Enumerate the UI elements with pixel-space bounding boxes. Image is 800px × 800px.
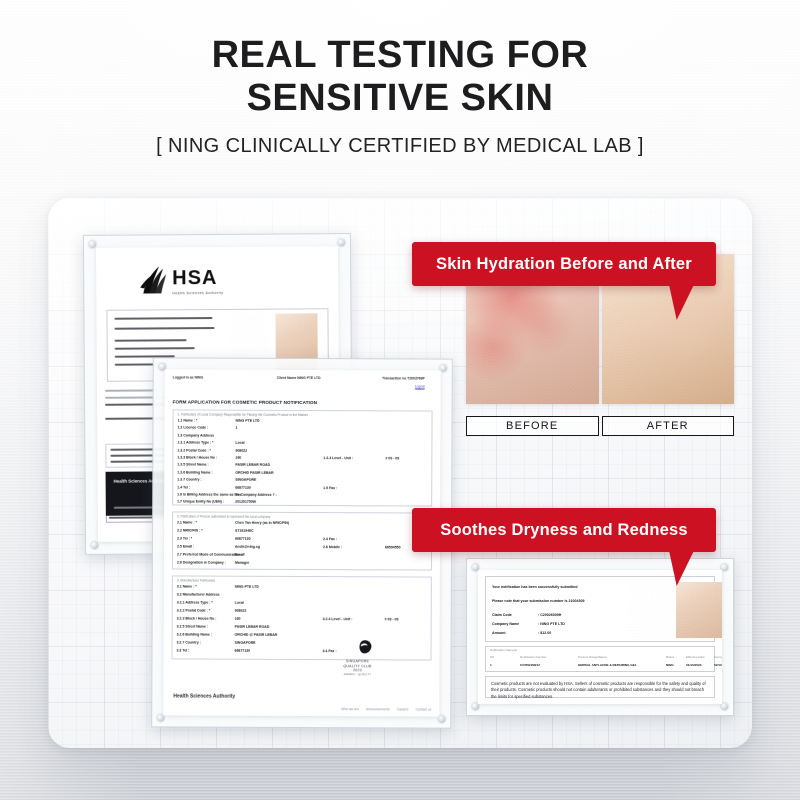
notification-field-label: Amount: [492, 631, 506, 635]
title-line-1: REAL TESTING FOR: [0, 34, 800, 77]
form-top-bar: Logged in as NING Client Name NING PTE L…: [173, 375, 433, 392]
section-1-heading: 1. Particulars of Local Company Responsi…: [178, 412, 308, 417]
receipt-field-line: [115, 347, 195, 350]
form-section-1: 1. Particulars of Local Company Responsi…: [172, 409, 432, 506]
document-panel-application-form[interactable]: Logged in as NING Client Name NING PTE L…: [151, 357, 453, 728]
table-cell: 01/10/2023: [686, 663, 701, 667]
form-field-value: Yes: [235, 493, 241, 497]
application-form-paper: Logged in as NING Client Name NING PTE L…: [163, 369, 441, 716]
form-field-label: 2.1 Name : *: [177, 520, 197, 524]
form-field-value: 160: [235, 617, 241, 621]
form-title: FORM APPLICATION FOR COSMETIC PRODUCT NO…: [173, 399, 318, 405]
banner-soothes-dryness: Soothes Dryness and Redness: [412, 508, 716, 552]
form-field-value: 201201750W: [235, 500, 256, 504]
form-field-label: 1.3.3 Block / House No :: [177, 455, 217, 459]
form-field-value: Local: [235, 601, 244, 605]
form-field-label: 3.3 Tel :: [177, 648, 190, 652]
table-cell: 1: [490, 663, 492, 667]
form-field-label: 1.3.7 Country :: [177, 478, 201, 482]
notification-disclaimer: Cosmetic products are not evaluated by H…: [486, 677, 714, 704]
form-field-label: 2.8 Designation in Company :: [177, 560, 226, 564]
form-field-label: 1.3.6 Building Name :: [177, 470, 212, 474]
form-field-value: Manager: [235, 561, 249, 565]
hsa-bird-icon: [138, 263, 168, 295]
form-field-label: 3.2.2 Postal Code : *: [177, 608, 210, 612]
footer-link[interactable]: Careers: [397, 707, 409, 711]
notification-field-label: Claim Code: [492, 613, 512, 617]
receipt-submitted-line: [114, 317, 212, 320]
screw-icon: [91, 542, 98, 549]
screw-icon: [89, 241, 96, 248]
section-2-heading: 2. Particulars of Person authorised to r…: [177, 514, 270, 518]
screw-icon: [440, 365, 447, 372]
form-field-value: 908022: [235, 609, 247, 613]
form-field-label: 3.2.7 Country :: [177, 640, 201, 644]
form-field-label: 3.2.1 Address Type : *: [177, 600, 213, 604]
table-cell: CCPN21M212: [520, 663, 540, 667]
form-field-value: 66594550: [385, 545, 401, 549]
screw-icon: [438, 716, 445, 723]
form-section-2: 2. Particulars of Person authorised to r…: [172, 511, 432, 570]
form-footer-links[interactable]: Who we areAnnouncementsCareersContact us: [341, 707, 431, 711]
receipt-number-line: [115, 327, 215, 330]
form-field-value: NING PTE LTD: [235, 585, 259, 589]
table-column-header: Product Range/Name: [578, 655, 607, 659]
form-field-value: Chen Tan Henry (as in NRIC/FIN): [235, 521, 289, 525]
stamp-line-4: AWARD - QUALITY: [331, 673, 383, 677]
notification-field-value: : NING PTE LTD: [538, 622, 565, 626]
form-field-label: 1.3.4 Level - Unit :: [323, 456, 353, 460]
form-field-label: 3.2.5 Street Name :: [177, 624, 208, 628]
form-field-value: PASIR LEBAR ROAD: [235, 625, 270, 629]
form-field-label: 1.3.1 Address Type : *: [177, 441, 213, 445]
form-field-value: 1: [235, 426, 237, 430]
form-field-label: 3.2 Manufacturer Address: [177, 592, 220, 596]
hsa-logo-subtitle: Health Sciences Authority: [172, 291, 223, 295]
screw-icon: [338, 239, 345, 246]
form-field-label: 1.1 Name : *: [178, 418, 198, 422]
banner-skin-hydration: Skin Hydration Before and After: [412, 242, 716, 286]
form-field-value: PASIR LEBAR ROAD: [235, 463, 270, 467]
banner-skin-hydration-label: Skin Hydration Before and After: [436, 255, 692, 274]
form-field-value: 66877130: [235, 485, 251, 489]
notification-table: Notification Name(s) SNNotification Numb…: [485, 646, 715, 672]
footer-link[interactable]: Announcements: [366, 707, 390, 711]
notification-disclaimer-box: Cosmetic products are not evaluated by H…: [485, 676, 715, 698]
form-field-value: ORCHID @ PASIR LEBAR: [235, 633, 278, 637]
table-cell: HERBAL ANTI-ACNE & REPAIRING GEL: [578, 663, 637, 667]
headline-block: REAL TESTING FOR SENSITIVE SKIN [ NING C…: [0, 34, 800, 158]
form-field-value: 160: [235, 456, 241, 460]
form-field-value: # 09 - 09: [385, 456, 399, 460]
logout-link[interactable]: Logout: [415, 384, 425, 388]
footer-link[interactable]: Contact us: [416, 707, 432, 711]
form-field-value: 66877130: [235, 537, 251, 541]
section-2-rows: 2.1 Name : *Chen Tan Henry (as in NRIC/F…: [173, 512, 431, 513]
screw-icon: [721, 703, 728, 710]
screw-icon: [472, 703, 479, 710]
form-section-3: 3. Manufacturer Particulars 3.1 Name : *…: [171, 575, 431, 660]
form-field-value: NING PTE LTD: [236, 419, 260, 423]
form-field-label: 2.3 Tel : *: [177, 536, 192, 540]
form-logged-in-user: Logged in as NING: [173, 375, 203, 379]
form-field-label: 1.3.2 Postal Code : *: [177, 448, 210, 452]
notification-skin-after-thumb: [676, 582, 722, 638]
section-1-rows: 1.1 Name : *NING PTE LTD1.2 Licence Code…: [174, 410, 432, 411]
form-field-label: 1.2 Licence Code :: [177, 426, 208, 430]
skin-grain: [627, 582, 674, 638]
footer-link[interactable]: Who we are: [341, 707, 359, 711]
table-column-header: Effective Date: [686, 655, 705, 659]
section-3-heading: 3. Manufacturer Particulars: [177, 578, 215, 582]
hsa-wordmark: HSA: [172, 267, 217, 289]
form-field-value: S7191946C: [235, 529, 254, 533]
form-field-value: SINGAPORE: [235, 478, 256, 482]
table-cell: 02/10/2024: [714, 663, 722, 667]
hsa-logo: HSA Health Sciences Authority: [138, 263, 223, 296]
form-field-value: # 09 - 09: [385, 617, 399, 621]
form-field-label: 3.2.3 Block / House No :: [177, 616, 217, 620]
form-field-value: 908022: [235, 448, 247, 452]
notification-field-value: : C20026009H: [538, 613, 561, 617]
banner-soothes-dryness-label: Soothes Dryness and Redness: [440, 521, 687, 540]
table-caption: Notification Name(s): [490, 648, 517, 652]
form-field-value: Local: [235, 441, 244, 445]
notification-submitted-text: Your notification has been successfully …: [492, 585, 578, 589]
screw-icon: [157, 714, 164, 721]
before-after-labels: BEFORE AFTER: [466, 416, 734, 436]
label-after: AFTER: [602, 416, 735, 436]
page-subtitle: [ NING CLINICALLY CERTIFIED BY MEDICAL L…: [0, 135, 800, 158]
table-column-header: Notification Number: [520, 655, 546, 659]
form-field-label: 1.7 Unique Entity No (UEN) :: [177, 500, 224, 504]
form-field-label: 1.6 Is Billing Address the same as the C…: [177, 492, 277, 496]
form-field-label: 1.5 Fax :: [323, 486, 337, 490]
form-field-label: 2.4 Fax :: [323, 537, 337, 541]
form-field-label: 3.2.4 Level - Unit :: [323, 617, 353, 621]
quality-club-stamp: SINGAPORE QUALITY CLUB 2023 AWARD - QUAL…: [331, 637, 383, 676]
table-column-header: Expiry Date: [714, 655, 722, 659]
receipt-field-line: [115, 339, 187, 342]
form-field-label: 2.5 Email :: [177, 544, 194, 548]
form-field-label: 3.2.6 Building Name :: [177, 632, 212, 636]
page-title: REAL TESTING FOR SENSITIVE SKIN: [0, 34, 800, 119]
form-field-label: 1.3 Company Address: [177, 433, 214, 437]
notification-field-label: Company Name: [492, 622, 519, 626]
skin-grain: [676, 582, 722, 638]
form-field-label: 1.3.5 Street Name :: [177, 463, 208, 467]
form-field-value: deshi@ning.sg: [235, 545, 260, 549]
form-field-label: 2.2 NRIC/FIN : *: [177, 528, 203, 532]
table-cell: NING: [666, 663, 674, 667]
form-field-value: ORCHID PASIR LEBAR: [235, 471, 273, 475]
table-column-header: SN: [490, 655, 494, 659]
form-field-label: 1.4 Tel :: [177, 485, 190, 489]
label-before: BEFORE: [466, 416, 599, 436]
form-transaction-no: Transaction no T2003769P: [382, 376, 425, 380]
form-field-value: SINGAPORE: [235, 641, 256, 645]
notification-paper: Your notification has been successfully …: [478, 570, 722, 704]
form-field-value: 66877130: [235, 649, 251, 653]
table-caption-line: [105, 389, 157, 391]
form-field-value: Email: [235, 553, 244, 557]
document-panel-notification[interactable]: Your notification has been successfully …: [466, 558, 734, 716]
form-field-label: 2.6 Mobile :: [323, 545, 342, 549]
table-column-header: Brand: [666, 655, 674, 659]
notification-skin-before-thumb: [627, 582, 674, 638]
section-3-rows: 3.1 Name : *NING PTE LTD3.2 Manufacturer…: [173, 576, 431, 577]
notification-number-text: Please note that your submission number …: [492, 599, 584, 603]
title-line-2: SENSITIVE SKIN: [0, 77, 800, 120]
form-field-label: 3.1 Name : *: [177, 584, 197, 588]
form-footer-org: Health Sciences Authority: [173, 693, 235, 699]
screw-icon: [721, 564, 728, 571]
notification-field-value: : $12.00: [538, 631, 551, 635]
form-client-name: Client Name NING PTE LTD: [277, 376, 321, 380]
